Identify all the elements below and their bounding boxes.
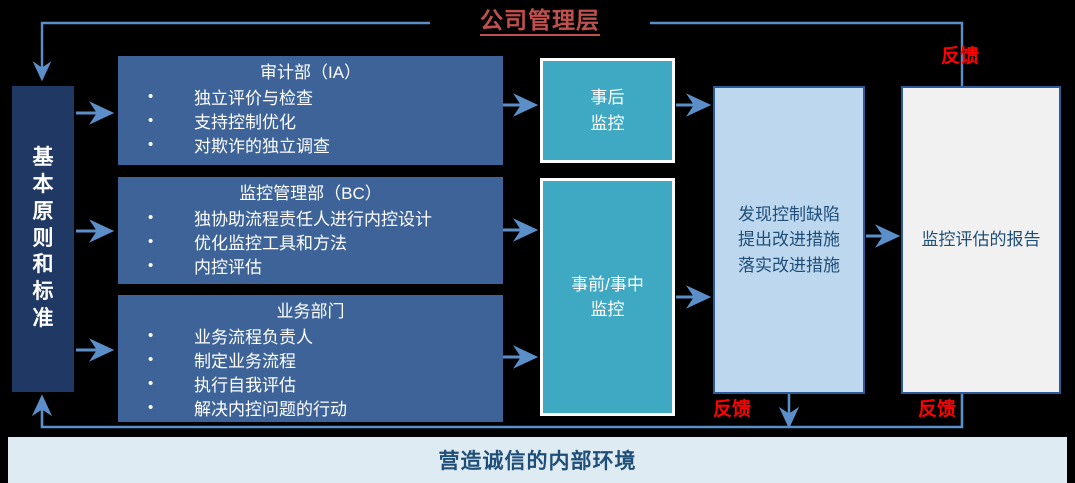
- list-item: 优化监控工具和方法: [138, 232, 503, 256]
- page-title: 公司管理层: [430, 0, 650, 44]
- pre-in-monitoring-box[interactable]: 事前/事中监控: [540, 178, 675, 416]
- list-item: 独协助流程责任人进行内控设计: [138, 208, 503, 232]
- principles-standards-box[interactable]: 基本原则和标准: [12, 86, 74, 392]
- list-item: 制定业务流程: [138, 350, 503, 374]
- page-title-text: 公司管理层: [480, 8, 600, 35]
- list-item: 解决内控问题的行动: [138, 398, 503, 422]
- list-item: 对欺诈的独立调查: [138, 135, 503, 159]
- findings-box[interactable]: 发现控制缺陷提出改进措施落实改进措施: [713, 86, 865, 394]
- audit-department-title: 审计部（IA）: [118, 61, 503, 86]
- post-monitoring-label: 事后监控: [591, 85, 625, 136]
- list-item: 内控评估: [138, 256, 503, 280]
- monitoring-management-department-list: 独协助流程责任人进行内控设计 优化监控工具和方法 内控评估: [118, 208, 503, 280]
- list-item: 执行自我评估: [138, 374, 503, 398]
- list-item: 支持控制优化: [138, 111, 503, 135]
- bottom-bar-label: 营造诚信的内部环境: [439, 445, 637, 475]
- report-label: 监控评估的报告: [922, 227, 1041, 253]
- feedback-label-top-right: 反馈: [941, 41, 979, 68]
- pre-in-monitoring-label: 事前/事中监控: [571, 272, 644, 323]
- bottom-bar: 营造诚信的内部环境: [8, 437, 1067, 483]
- audit-department-box[interactable]: 审计部（IA） 独立评价与检查 支持控制优化 对欺诈的独立调查: [118, 56, 503, 165]
- list-item: 业务流程负责人: [138, 326, 503, 350]
- feedback-label-bottom-middle: 反馈: [713, 394, 751, 421]
- business-department-title: 业务部门: [118, 300, 503, 325]
- feedback-label-bottom-right: 反馈: [918, 394, 956, 421]
- business-department-list: 业务流程负责人 制定业务流程 执行自我评估 解决内控问题的行动: [118, 326, 503, 423]
- principles-standards-label: 基本原则和标准: [28, 145, 58, 333]
- monitoring-management-department-title: 监控管理部（BC）: [118, 182, 503, 207]
- post-monitoring-box[interactable]: 事后监控: [540, 58, 675, 163]
- audit-department-list: 独立评价与检查 支持控制优化 对欺诈的独立调查: [118, 87, 503, 159]
- findings-label: 发现控制缺陷提出改进措施落实改进措施: [738, 202, 840, 279]
- monitoring-management-department-box[interactable]: 监控管理部（BC） 独协助流程责任人进行内控设计 优化监控工具和方法 内控评估: [118, 177, 503, 284]
- list-item: 独立评价与检查: [138, 87, 503, 111]
- report-box[interactable]: 监控评估的报告: [901, 86, 1061, 394]
- diagram-canvas: 公司管理层 基本原则和标准 审计部（IA） 独立评价与检查 支持控制优化 对欺诈…: [0, 0, 1075, 483]
- business-department-box[interactable]: 业务部门 业务流程负责人 制定业务流程 执行自我评估 解决内控问题的行动: [118, 295, 503, 422]
